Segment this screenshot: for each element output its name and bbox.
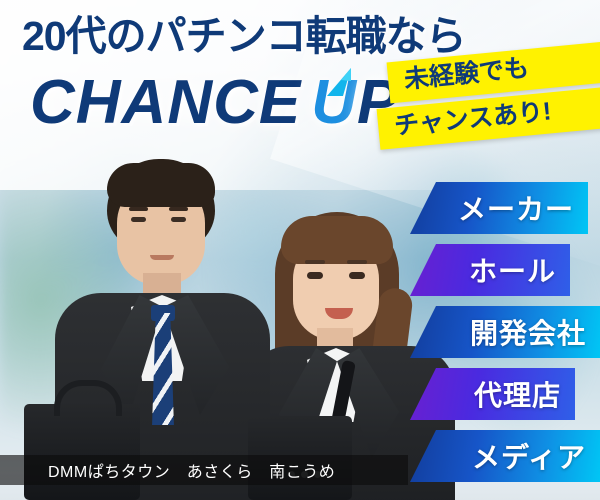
menu-item-maker-label: メーカー [458,188,574,228]
menu-item-hall-label: ホール [469,250,556,290]
woman-eyebrow-left [305,260,325,264]
menu-item-agency-label: 代理店 [474,374,561,414]
menu-item-maker[interactable]: メーカー [410,182,588,234]
man-eye-left [131,217,146,222]
man-eyebrow-right [169,207,188,211]
man-fringe [107,163,215,207]
man-eyebrow-left [129,207,148,211]
menu-item-agency[interactable]: 代理店 [410,368,575,420]
menu-item-developer-label: 開発会社 [470,312,586,352]
woman-fringe [281,216,393,264]
briefcase-handle [54,380,122,416]
category-menu: メーカー ホール 開発会社 代理店 メディア [410,182,600,492]
logo-letter-u: U [311,68,357,137]
woman-eye-left [307,272,323,279]
advertisement-banner: 20代のパチンコ転職なら CHANCEUP 未経験でも チャンスあり! メーカー… [0,0,600,500]
footer-credit-bar: DMMぱちタウン あさくら 南こうめ [0,455,408,485]
footer-credits: DMMぱちタウン あさくら 南こうめ [0,458,335,482]
man-mouth [150,255,174,260]
menu-item-developer[interactable]: 開発会社 [410,306,600,358]
logo-chance-word: CHANCE [30,68,301,137]
woman-eye-right [349,272,365,279]
promo-badge: 未経験でも チャンスあり! [378,52,600,139]
man-eye-right [171,217,186,222]
woman-eyebrow-right [347,260,367,264]
menu-item-media[interactable]: メディア [410,430,600,482]
briefcase-left [24,404,140,500]
menu-item-media-label: メディア [472,436,586,476]
logo-chance-up: CHANCEUP [30,72,399,134]
menu-item-hall[interactable]: ホール [410,244,570,296]
headline-text: 20代のパチンコ転職なら [22,16,466,57]
